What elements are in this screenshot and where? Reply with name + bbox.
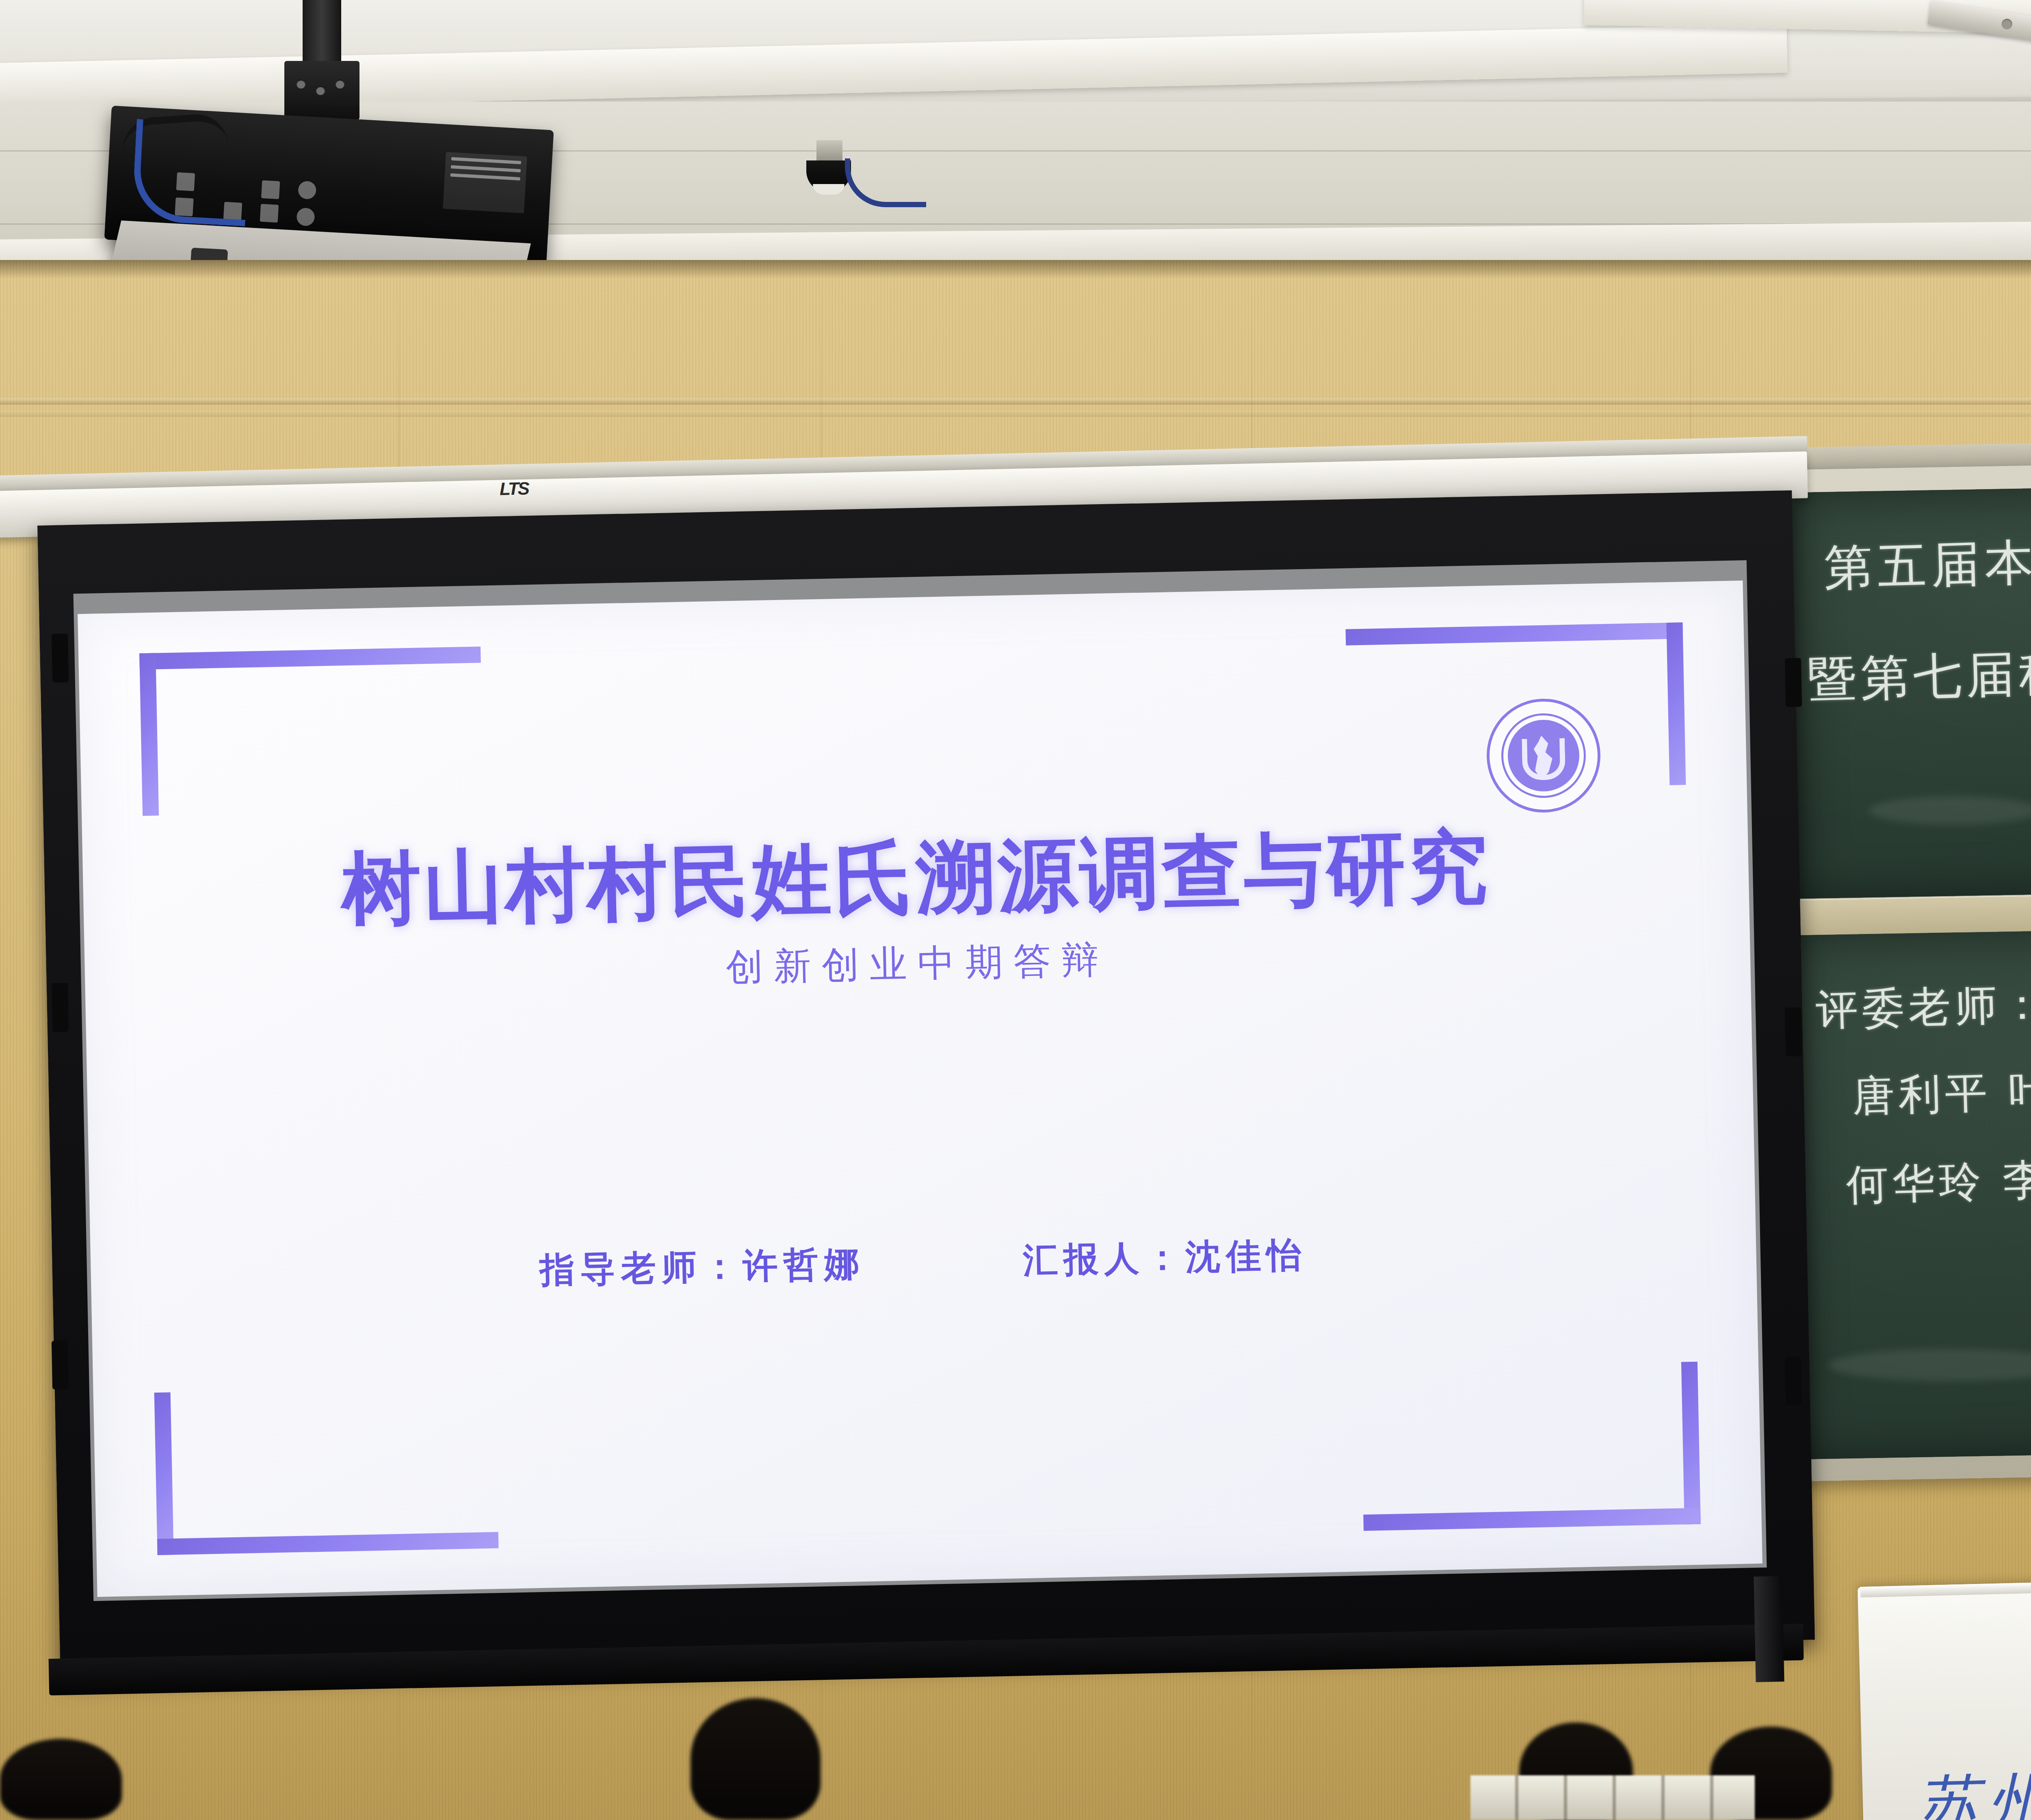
projector-label (443, 152, 527, 213)
blackboard-line-3: 评委老师： (1815, 976, 2031, 1039)
slide-advisor: 指导老师：许哲娜 (539, 1240, 865, 1294)
slide-presenter: 汇报人：沈佳怡 (1022, 1231, 1308, 1285)
wall-shadow (0, 260, 2031, 279)
desk-row (1470, 1775, 1755, 1820)
projector-mount-rod (303, 0, 341, 69)
audience-head (0, 1739, 122, 1820)
slide-corner-top-right-v (1666, 622, 1686, 785)
slide-university-logo (1485, 698, 1602, 814)
slide-corner-bottom-left (157, 1532, 499, 1555)
lecture-hall-photo: 第五届本科生学术论坛 暨第七届科研立项中期答辩会 评委老师： 唐利平 叶嘉敏 何… (0, 0, 2031, 1820)
audience-head (691, 1698, 821, 1820)
slide-corner-top-left (139, 646, 481, 669)
slide-corner-bottom-left-v (154, 1392, 174, 1555)
slide-corner-bottom-right-v (1681, 1362, 1701, 1525)
slide-corner-top-left-v (139, 653, 159, 816)
blackboard-line-4: 唐利平 叶嘉敏 (1851, 1060, 2031, 1125)
slide-corner-top-right (1346, 622, 1683, 646)
screen-brand-logo: LTS (499, 478, 528, 499)
screen-weight-bar (1754, 1576, 1784, 1682)
slide-credits: 指导老师：许哲娜 汇报人：沈佳怡 (91, 1222, 1757, 1303)
projector-mount-plate (284, 61, 359, 120)
lectern-banner-text: 苏州科技大学 (1916, 1754, 2031, 1820)
slide-corner-bottom-right (1363, 1508, 1701, 1531)
blackboard-line-5: 何华玲 李辉 (1845, 1150, 2031, 1214)
